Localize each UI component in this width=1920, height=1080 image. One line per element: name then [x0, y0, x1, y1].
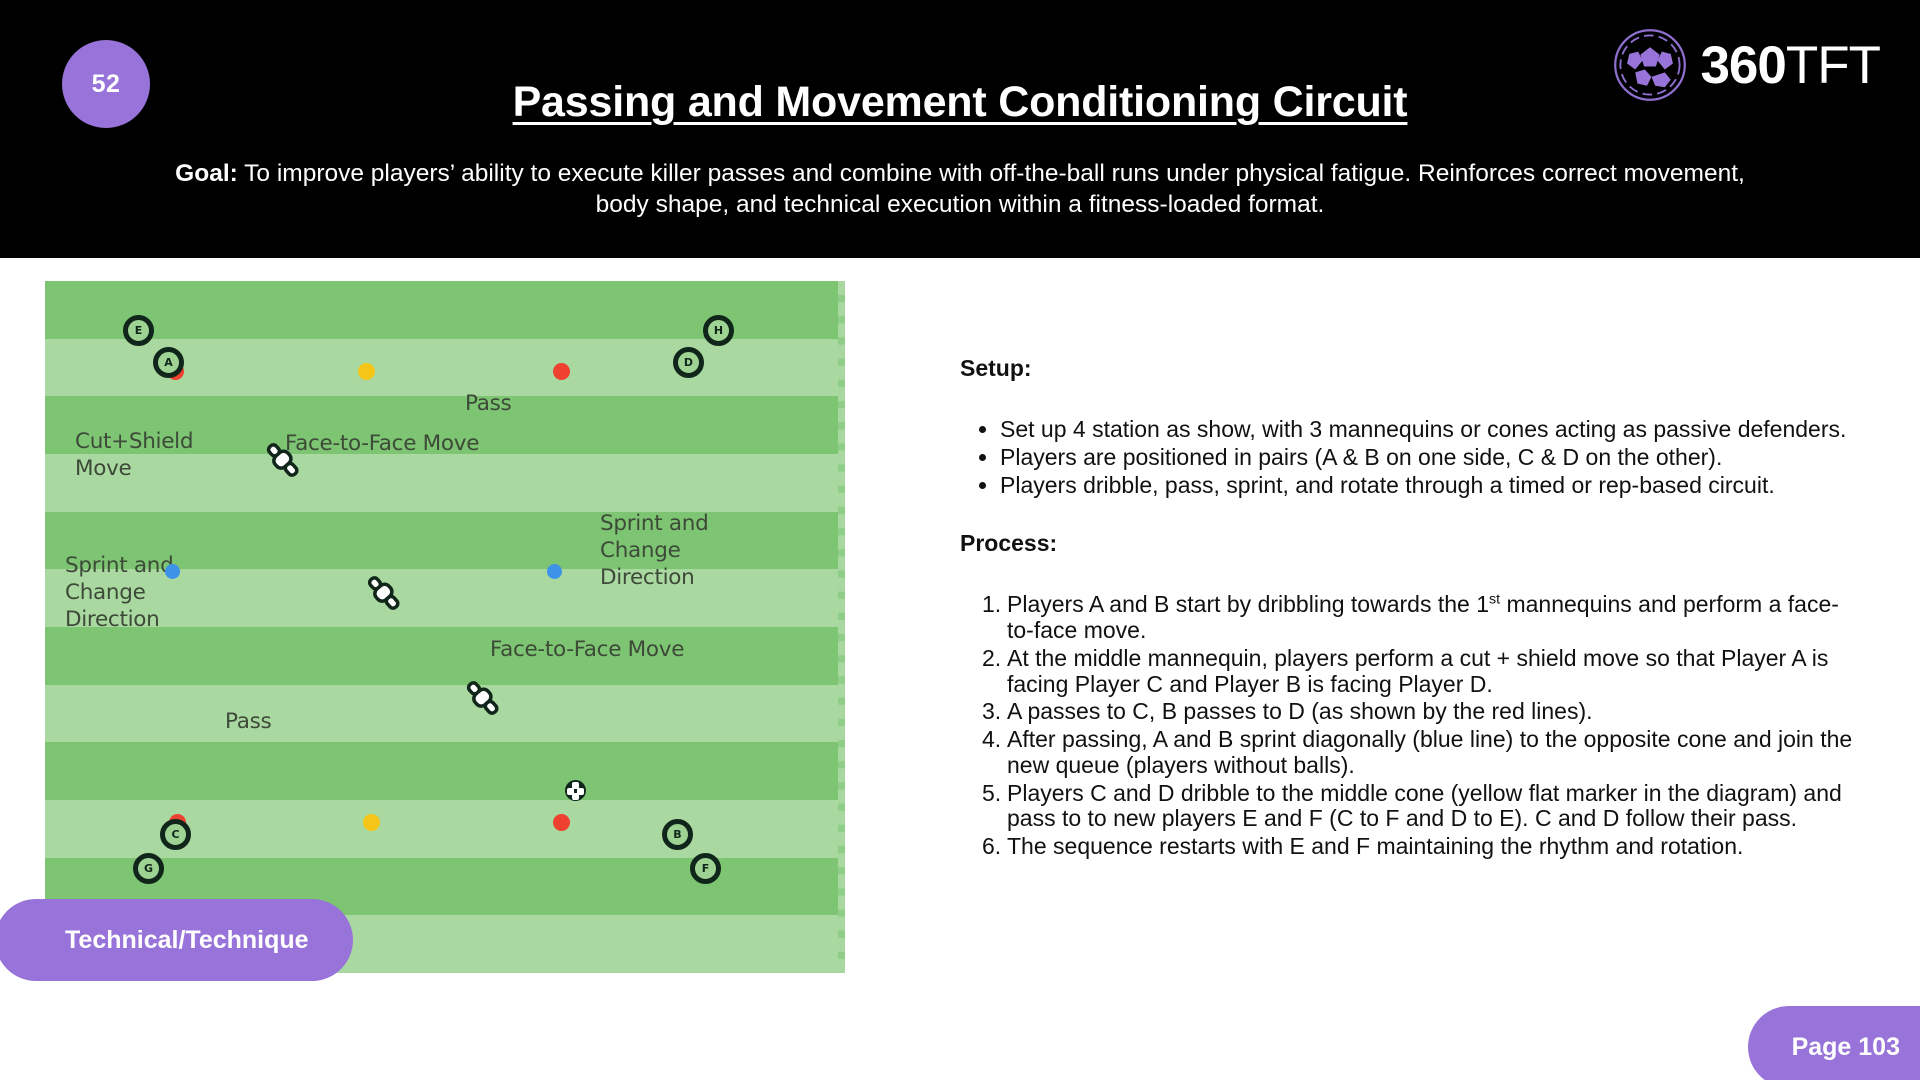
player-marker-e: E [123, 315, 154, 346]
blue-dot-marker [165, 564, 180, 579]
diagram-label: Sprint and Change Direction [65, 553, 173, 634]
page-label: Page 103 [1792, 1033, 1900, 1062]
red-ball-marker [553, 814, 570, 831]
player-marker-f: F [690, 853, 721, 884]
process-item: After passing, A and B sprint diagonally… [982, 727, 1865, 779]
process-heading: Process: [960, 530, 1865, 557]
goal-label: Goal: [175, 160, 238, 187]
yellow-cone-marker [358, 363, 375, 380]
diagram-label: Pass [465, 391, 511, 418]
brand-360: 360 [1700, 36, 1785, 95]
player-marker-d: D [673, 347, 704, 378]
process-item: Players C and D dribble to the middle co… [982, 781, 1865, 833]
brand-wordmark: 360TFT [1700, 39, 1880, 92]
diagram-label: Sprint and Change Direction [600, 511, 708, 592]
red-ball-marker [553, 363, 570, 380]
yellow-cone-marker [363, 814, 380, 831]
pitch-stripe [45, 685, 838, 743]
pitch-surface: Cut+Shield MoveFace-to-Face MovePassSpri… [45, 281, 845, 973]
setup-list: Set up 4 station as show, with 3 mannequ… [1000, 417, 1865, 498]
goal-statement: Goal: To improve players’ ability to exe… [150, 158, 1770, 221]
soccer-ball-marker [565, 780, 586, 801]
player-marker-c: C [160, 819, 191, 850]
brand-tft: TFT [1786, 36, 1880, 95]
setup-item: Players are positioned in pairs (A & B o… [1000, 445, 1865, 471]
setup-heading: Setup: [960, 355, 1865, 382]
category-pill: Technical/Technique [0, 899, 353, 981]
process-list: Players A and B start by dribbling towar… [982, 592, 1865, 860]
slide-page: 52 Passing and Movement Conditioning Cir… [0, 0, 1920, 1080]
diagram-label: Pass [225, 709, 271, 736]
process-item: A passes to C, B passes to D (as shown b… [982, 699, 1865, 725]
setup-item: Set up 4 station as show, with 3 mannequ… [1000, 417, 1865, 443]
player-marker-g: G [133, 853, 164, 884]
diagram-label: Cut+Shield Move [75, 429, 193, 483]
soccer-ball-icon [1613, 28, 1687, 102]
player-marker-h: H [703, 315, 734, 346]
diagram-label: Face-to-Face Move [490, 637, 684, 664]
process-item: At the middle mannequin, players perform… [982, 646, 1865, 698]
player-marker-a: A [153, 347, 184, 378]
header-bar: 52 Passing and Movement Conditioning Cir… [0, 0, 1920, 258]
setup-item: Players dribble, pass, sprint, and rotat… [1000, 473, 1865, 499]
player-marker-b: B [662, 819, 693, 850]
process-item: Players A and B start by dribbling towar… [982, 592, 1865, 644]
diagram-label: Face-to-Face Move [285, 431, 479, 458]
pitch-stripe [45, 742, 838, 800]
page-pill: Page 103 [1748, 1006, 1920, 1080]
drill-diagram: Cut+Shield MoveFace-to-Face MovePassSpri… [45, 281, 845, 973]
blue-dot-marker [547, 564, 562, 579]
pitch-stripe [45, 627, 838, 685]
brand-logo: 360TFT [1613, 28, 1880, 102]
instructions-panel: Setup: Set up 4 station as show, with 3 … [960, 355, 1865, 862]
goal-text: To improve players’ ability to execute k… [238, 160, 1745, 218]
process-item: The sequence restarts with E and F maint… [982, 834, 1865, 860]
category-label: Technical/Technique [65, 926, 309, 955]
